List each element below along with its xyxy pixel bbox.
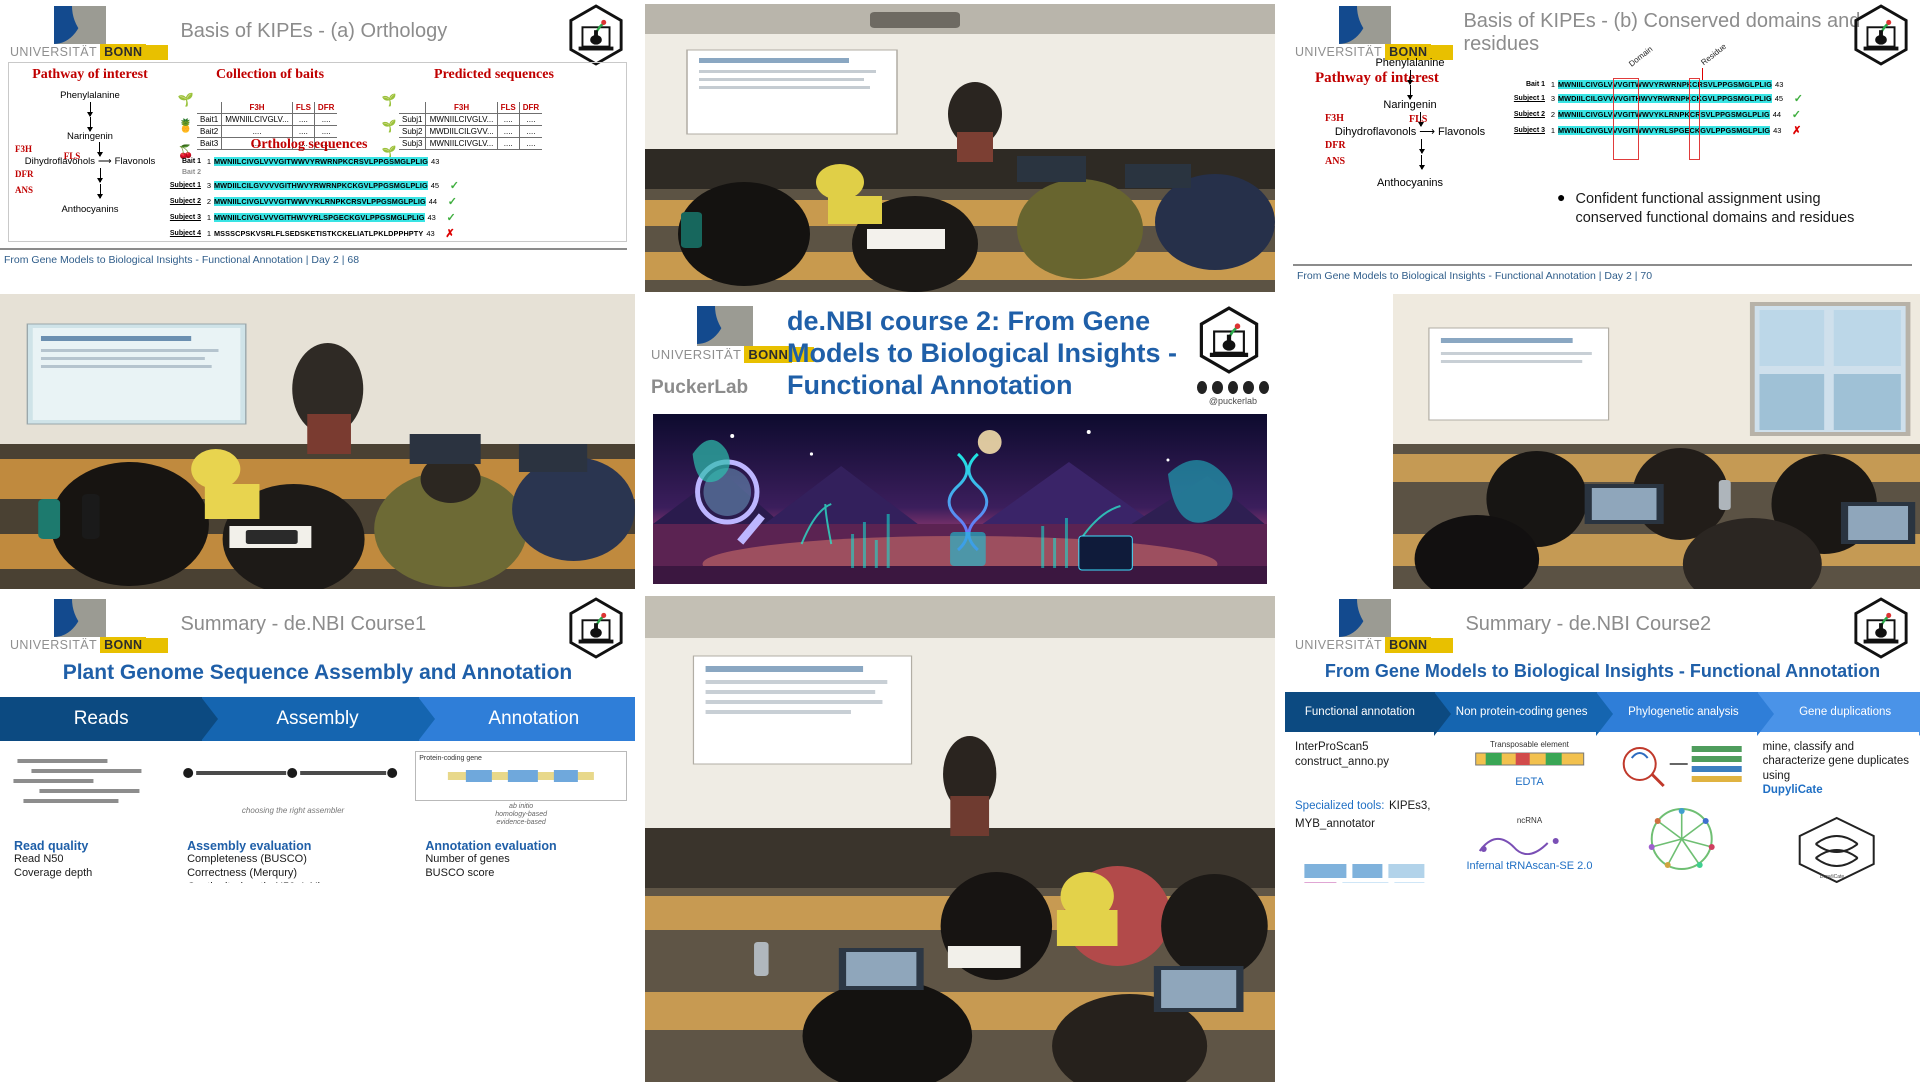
alignment-end: 43 xyxy=(428,157,444,166)
university-word: UNIVERSITÄT xyxy=(651,347,741,362)
enzyme-dfr: DFR xyxy=(15,170,34,179)
alignment-start: 1 xyxy=(205,157,214,166)
cell: .... xyxy=(222,126,293,138)
alignment-label: Subject 3 xyxy=(1503,127,1549,134)
pathway-branch: Flavonols xyxy=(1438,127,1485,138)
summary2-column-duplications: mine, classify and characterize gene dup… xyxy=(1763,740,1910,883)
alignment-label: Subject 3 xyxy=(159,214,205,221)
summary2-columns: InterProScan5 construct_anno.py Speciali… xyxy=(1285,732,1920,883)
summary2-column-phylogenetics xyxy=(1609,740,1756,883)
bullet-text: Confident functional assignment using co… xyxy=(1575,190,1887,228)
slide-header: UNIVERSITÄT BONN Summary - de.NBI Course… xyxy=(0,593,635,653)
list-item: Read N50 xyxy=(14,853,177,867)
university-word: UNIVERSITÄT xyxy=(10,638,97,652)
github-icon[interactable] xyxy=(1197,381,1207,394)
check-icon: ✓ xyxy=(1794,92,1803,105)
col-fls: FLS xyxy=(292,102,314,114)
tool-construct-anno: construct_anno.py xyxy=(1295,755,1450,770)
alignment-start: 1 xyxy=(205,213,214,222)
cell: .... xyxy=(519,126,542,138)
reads-diagram xyxy=(8,751,171,833)
pathway-arrow-icon xyxy=(100,168,101,182)
puckerlab-branding: @puckerlab xyxy=(1197,306,1269,406)
social-links[interactable] xyxy=(1197,381,1269,394)
alignment-row: Bait 2 xyxy=(159,169,459,176)
university-bonn-logo: UNIVERSITÄT BONN xyxy=(10,599,168,653)
cell: MWDIILCILGVV... xyxy=(426,126,497,138)
alignment-sequence: MWNIILCIVGLVVVGITWWVYKLRNPKCRSVLPPGSMGLP… xyxy=(1558,110,1770,119)
alignment-row: Subject 1 3 MWDIILCILGVVVVGITHWVYRWRNPKC… xyxy=(159,179,459,192)
pathway-arrow-icon xyxy=(90,102,91,116)
kipes-diagram: Pathway of interest Phenylalanine Naring… xyxy=(8,62,627,242)
col-blank xyxy=(197,102,222,114)
puckerlab-hex-logo-icon xyxy=(1197,306,1261,374)
list-item: Continuity (contig N50, LAI) xyxy=(187,881,415,884)
col-dfr: DFR xyxy=(314,102,337,114)
tool-dupylicate: DupyliCate xyxy=(1763,783,1910,798)
slide-header: UNIVERSITÄT BONN Basis of KIPEs - (a) Or… xyxy=(0,0,635,60)
alignment-end: 43 xyxy=(425,213,441,222)
ortholog-panel: Ortholog sequences Bait 1 1 MWNIILCIVGLV… xyxy=(159,137,459,243)
pathway-arrow-icon xyxy=(1410,85,1411,99)
pathway-node-0: Phenylalanine xyxy=(15,91,165,101)
bonn-crest-icon xyxy=(1339,599,1391,637)
check-icon: ✓ xyxy=(450,179,459,192)
summary1-diagram-row: choosing the right assembler Protein-cod… xyxy=(0,751,635,833)
university-word: UNIVERSITÄT xyxy=(1295,638,1382,652)
specialized-tools-label: Specialized tools: xyxy=(1295,800,1385,812)
pathway-panel: Pathway of interest Phenylalanine Naring… xyxy=(15,67,165,214)
slide-footer: From Gene Models to Biological Insights … xyxy=(0,248,627,266)
university-bonn-logo: UNIVERSITÄT BONN xyxy=(1295,599,1453,653)
alignment-start: 1 xyxy=(1549,126,1558,135)
slide-course-title[interactable]: UNIVERSITÄT BONN PuckerLab de.NBI course… xyxy=(645,298,1275,590)
pathway-arrow-icon xyxy=(99,142,100,156)
university-bonn-logo: UNIVERSITÄT BONN xyxy=(1295,6,1453,60)
bonn-crest-icon xyxy=(54,6,106,44)
alignment-panel: Domain Residue Bait 1 1 MWNIILCIVGLVVVGI… xyxy=(1503,52,1803,140)
chevron-functional-annotation[interactable]: Functional annotation xyxy=(1285,692,1435,732)
ncrna-label: ncRNA xyxy=(1456,816,1603,825)
ortholog-section-title: Ortholog sequences xyxy=(159,137,459,153)
tool-edta: EDTA xyxy=(1456,776,1603,788)
cell: .... xyxy=(497,126,519,138)
photo-lecture-room xyxy=(645,4,1275,292)
puckerlab-label: PuckerLab xyxy=(651,377,748,399)
bluesky-icon[interactable] xyxy=(1212,381,1222,394)
alignment-label: Subject 2 xyxy=(1503,111,1549,118)
alignment-label: Subject 1 xyxy=(1503,95,1549,102)
gene-note-2: evidence-based xyxy=(415,819,627,827)
alignment-label: Subject 2 xyxy=(159,198,205,205)
university-word: UNIVERSITÄT xyxy=(1295,45,1382,59)
pathway-panel: Phenylalanine Naringenin F3H Dihydroflav… xyxy=(1325,58,1495,189)
alignment-row: Subject 2 2 MWNIILCIVGLVVVGITWWVYKLRNPKC… xyxy=(159,195,459,208)
slide-header: UNIVERSITÄT BONN Summary - de.NBI Course… xyxy=(1285,593,1920,653)
check-icon: ✓ xyxy=(1792,108,1801,121)
alignment-sequence: MWNIILCIVGLVVVGITWWVYRLSPGECKGVLPPGSMGLP… xyxy=(1558,126,1770,135)
bonn-crest-icon xyxy=(697,306,753,346)
predicted-section-title: Predicted sequences xyxy=(379,67,609,83)
gene-note-1: homology-based xyxy=(415,811,627,819)
alignment-end: 45 xyxy=(1772,94,1788,103)
table-row: Subj2MWDIILCILGVV........... xyxy=(399,126,542,138)
dupylicate-logo-icon: DupyliCate xyxy=(1763,814,1910,883)
enzyme-f3h: F3H xyxy=(1325,114,1344,124)
cell: .... xyxy=(314,114,337,126)
alignment-start: 3 xyxy=(1549,94,1558,103)
alignment-end: 43 xyxy=(1770,126,1786,135)
cell: Subj1 xyxy=(399,114,426,126)
slide-summary-course2[interactable]: UNIVERSITÄT BONN Summary - de.NBI Course… xyxy=(1285,593,1920,883)
pathway-arrow-icon xyxy=(1410,70,1411,84)
col-dfr: DFR xyxy=(519,102,542,114)
photo-classroom-projector xyxy=(0,294,635,589)
pipeline-chevrons: Functional annotation Non protein-coding… xyxy=(1285,692,1920,732)
pipeline-chevrons: Reads Assembly Annotation xyxy=(0,697,635,741)
university-bonn-logo: UNIVERSITÄT BONN xyxy=(10,6,168,60)
bonn-crest-icon xyxy=(54,599,106,637)
alignment-sequence: MWDIILCILGVVVVGITHWVYRWRNPKCKGVLPPGSMGLP… xyxy=(1558,94,1772,103)
alignment-row: Subject 4 1 MSSSCPSKVSRLFLSEDSKETISTKCKE… xyxy=(159,227,459,240)
table-row: Subj1MWNIILCIVGLV........... xyxy=(399,114,542,126)
alignment-end: 43 xyxy=(1772,80,1788,89)
gallery-column-center: UNIVERSITÄT BONN PuckerLab de.NBI course… xyxy=(635,0,1285,1082)
summary2-column-ncrna: Transposable element EDTA ncRNA In xyxy=(1456,740,1603,883)
bullet-row: ● Confident functional assignment using … xyxy=(1557,190,1887,228)
assembly-diagram: choosing the right assembler xyxy=(171,751,415,833)
cross-icon: ✗ xyxy=(445,227,454,240)
alignment-start: 3 xyxy=(205,181,214,190)
alignment-label: Bait 2 xyxy=(159,169,205,176)
alignment-start: 2 xyxy=(205,197,214,206)
slide-footer: From Gene Models to Biological Insights … xyxy=(1293,264,1912,282)
pathway-arrow-icon xyxy=(90,117,91,131)
enzyme-fls: FLS xyxy=(1409,115,1427,125)
bonn-crest-icon xyxy=(1339,6,1391,44)
enzyme-f3h: F3H xyxy=(15,145,32,154)
university-bonn-logo: UNIVERSITÄT BONN PuckerLab xyxy=(651,306,779,399)
alignment-sequence: MSSSCPSKVSRLFLSEDSKETISTKCKELIATLPKLDPPH… xyxy=(214,229,423,238)
cell: .... xyxy=(292,126,314,138)
list-item: BUSCO score xyxy=(425,867,621,881)
alignment-label: Bait 1 xyxy=(1503,81,1549,88)
column-title: Assembly evaluation xyxy=(187,839,415,853)
annotation-diagram: Protein-coding gene ab initio homology-b… xyxy=(415,751,627,833)
slide-basis-kipes-domains[interactable]: UNIVERSITÄT BONN Basis of KIPEs - (b) Co… xyxy=(1285,0,1920,290)
alignment-label: Subject 4 xyxy=(159,230,205,237)
cell: Subj2 xyxy=(399,126,426,138)
university-word: UNIVERSITÄT xyxy=(10,45,97,59)
alignment-end: 45 xyxy=(428,181,444,190)
pathway-arrow-icon xyxy=(1421,155,1422,169)
pathway-node-2: Dihydroflavonols xyxy=(25,157,95,167)
pathway-arrow-icon xyxy=(100,184,101,198)
slide-basis-kipes-orthology[interactable]: UNIVERSITÄT BONN Basis of KIPEs - (a) Or… xyxy=(0,0,635,290)
cell: .... xyxy=(292,114,314,126)
list-item: Coverage depth xyxy=(14,867,177,881)
bonn-badge: BONN xyxy=(1385,637,1431,653)
tool-infernal-trnascan: Infernal tRNAscan-SE 2.0 xyxy=(1456,860,1603,873)
slide-title-line1: Basis of KIPEs - (b) Conserved domains a… xyxy=(1463,10,1860,33)
pathway-node-3: Anthocyanins xyxy=(1325,178,1495,189)
slide-title: Summary - de.NBI Course2 xyxy=(1465,599,1711,636)
bullet-icon: ● xyxy=(1557,190,1565,228)
puckerlab-hex-logo-icon xyxy=(567,4,625,66)
check-icon: ✓ xyxy=(447,211,456,224)
check-icon: ✓ xyxy=(448,195,457,208)
pathway-branch: Flavonols xyxy=(115,157,156,167)
social-handle: @puckerlab xyxy=(1197,396,1269,406)
summary1-column-assembly-eval: Assembly evaluation Completeness (BUSCO)… xyxy=(187,839,415,883)
alignment-end: 44 xyxy=(426,197,442,206)
te-label: Transposable element xyxy=(1456,740,1603,749)
bonn-badge: BONN xyxy=(100,637,146,653)
course-banner-art xyxy=(653,414,1267,584)
list-item: Correctness (Merqury) xyxy=(187,867,415,881)
alignment-row: Subject 1 3 MWDIILCILGVVVVGITHWVYRWRNPKC… xyxy=(1503,92,1803,105)
alignment-start: 1 xyxy=(205,229,214,238)
summary2-column-tools: InterProScan5 construct_anno.py Speciali… xyxy=(1295,740,1450,883)
enzyme-fls: FLS xyxy=(64,152,81,161)
pathway-node-2: Dihydroflavonols xyxy=(1335,127,1416,138)
gene-model-label: Protein-coding gene xyxy=(419,755,623,762)
alignment-end: 43 xyxy=(423,229,439,238)
annotation-track-diagram: homology-based annotation xyxy=(1295,858,1450,883)
cell: .... xyxy=(519,138,542,150)
assembly-caption: choosing the right assembler xyxy=(171,806,415,815)
alignment-row: Bait 1 1 MWNIILCIVGLVVVGITWWVYRWRNPKCRSV… xyxy=(1503,80,1803,89)
cell: MWNIILCIVGLV... xyxy=(222,114,293,126)
photo-classroom-window xyxy=(1393,294,1920,589)
pathway-section-title: Pathway of interest xyxy=(15,67,165,83)
baits-section-title: Collection of baits xyxy=(175,67,365,83)
table-row: Bait2............ xyxy=(197,126,337,138)
bonn-badge-tail xyxy=(146,638,168,653)
cell: MWNIILCIVGLV... xyxy=(426,114,497,126)
svg-text:DupyliCate: DupyliCate xyxy=(1819,874,1844,880)
slide-gallery: UNIVERSITÄT BONN Basis of KIPEs - (a) Or… xyxy=(0,0,1920,1078)
enzyme-ans: ANS xyxy=(1325,157,1345,167)
cell: .... xyxy=(497,114,519,126)
alignment-row: Subject 3 1 MWNIILCIVGLVVVGITHWVYRLSPGEC… xyxy=(159,211,459,224)
slide-title: Basis of KIPEs - (b) Conserved domains a… xyxy=(1463,6,1860,56)
bonn-badge-tail xyxy=(146,45,168,60)
alignment-end: 44 xyxy=(1770,110,1786,119)
puckerlab-hex-logo-icon xyxy=(567,597,625,659)
chevron-non-protein-coding[interactable]: Non protein-coding genes xyxy=(1435,692,1597,732)
alignment-start: 1 xyxy=(1549,80,1558,89)
ncrna-structure-icon xyxy=(1456,825,1603,855)
list-item: Completeness (BUSCO) xyxy=(187,853,415,867)
pathway-node-0: Phenylalanine xyxy=(1325,58,1495,69)
residue-highlight-box xyxy=(1689,78,1700,160)
alignment-sequence: MWNIILCIVGLVVVGITWWVYRWRNPKCRSVLPPGSMGLP… xyxy=(214,157,428,166)
summary1-column-read-quality: Read quality Read N50 Coverage depth xyxy=(14,839,177,883)
summary1-columns: Read quality Read N50 Coverage depth Ass… xyxy=(0,839,635,883)
chevron-annotation[interactable]: Annotation xyxy=(419,697,635,741)
column-title: Read quality xyxy=(14,839,177,853)
slide-summary-course1[interactable]: UNIVERSITÄT BONN Summary - de.NBI Course… xyxy=(0,593,635,883)
alignment-start: 2 xyxy=(1549,110,1558,119)
summary1-column-annotation-eval: Annotation evaluation Number of genes BU… xyxy=(425,839,621,883)
col-f3h: F3H xyxy=(222,102,293,114)
tool-interproscan: InterProScan5 xyxy=(1295,740,1450,755)
chevron-phylogenetic[interactable]: Phylogenetic analysis xyxy=(1597,692,1759,732)
alignment-row: Bait 1 1 MWNIILCIVGLVVVGITWWVYRWRNPKCRSV… xyxy=(159,157,459,166)
alignment-label: Subject 1 xyxy=(159,182,205,189)
col-fls: FLS xyxy=(497,102,519,114)
list-item: Number of genes xyxy=(425,853,621,867)
chevron-reads[interactable]: Reads xyxy=(0,697,202,741)
puckerlab-hex-logo-icon xyxy=(1852,597,1910,659)
chevron-assembly[interactable]: Assembly xyxy=(202,697,418,741)
alignment-row: Subject 2 2 MWNIILCIVGLVVVGITWWVYKLRNPKC… xyxy=(1503,108,1803,121)
residue-arrow-icon xyxy=(1702,68,1703,80)
cell: .... xyxy=(519,114,542,126)
cross-icon: ✗ xyxy=(1792,124,1801,137)
alignment-label: Bait 1 xyxy=(159,158,205,165)
chevron-gene-duplications[interactable]: Gene duplications xyxy=(1758,692,1920,732)
mastodon-icon[interactable] xyxy=(1259,381,1269,394)
summary2-headline: From Gene Models to Biological Insights … xyxy=(1325,661,1880,681)
phylogenetic-tree-icon xyxy=(1609,799,1756,877)
cell: .... xyxy=(497,138,519,150)
cell: Bait1 xyxy=(197,114,222,126)
col-blank xyxy=(399,102,426,114)
linkedin-icon[interactable] xyxy=(1243,381,1253,394)
slide-title: Summary - de.NBI Course1 xyxy=(180,599,426,636)
summary1-headline: Plant Genome Sequence Assembly and Annot… xyxy=(63,661,573,684)
pathway-arrow-icon xyxy=(1421,139,1422,153)
transposable-element-diagram xyxy=(1456,749,1603,771)
cell: .... xyxy=(314,126,337,138)
duplication-text: mine, classify and characterize gene dup… xyxy=(1763,740,1910,783)
course-title: de.NBI course 2: From Gene Models to Bio… xyxy=(779,306,1197,402)
alignment-row: Subject 3 1 MWNIILCIVGLVVVGITWWVYRLSPGEC… xyxy=(1503,124,1803,137)
domain-highlight-box xyxy=(1613,78,1639,160)
alignment-sequence: MWNIILCIVGLVVVGITHWVYRLSPGECKGVLPPGSMGLP… xyxy=(214,213,425,222)
column-title: Annotation evaluation xyxy=(425,839,621,853)
gallery-column-left: UNIVERSITÄT BONN Basis of KIPEs - (a) Or… xyxy=(0,0,635,1082)
puckerlab-hex-logo-icon xyxy=(1852,4,1910,66)
pathway-node-1: Naringenin xyxy=(15,132,165,142)
gene-note-0: ab initio xyxy=(415,803,627,811)
slide-title: Basis of KIPEs - (a) Orthology xyxy=(180,6,447,43)
alignment-sequence: MWNIILCIVGLVVVGITWWVYKLRNPKCRSVLPPGSMGLP… xyxy=(214,197,426,206)
cell: Bait2 xyxy=(197,126,222,138)
pathway-node-3: Anthocyanins xyxy=(15,205,165,215)
gallery-column-right: UNIVERSITÄT BONN Basis of KIPEs - (b) Co… xyxy=(1285,0,1920,1082)
enzyme-dfr: DFR xyxy=(1325,141,1346,151)
enzyme-ans: ANS xyxy=(15,186,33,195)
bonn-badge: BONN xyxy=(100,44,146,60)
bonn-badge-tail xyxy=(1431,638,1453,653)
sequence-cluster-diagram xyxy=(1609,740,1756,794)
slide-header: UNIVERSITÄT BONN Basis of KIPEs - (b) Co… xyxy=(1285,0,1920,60)
alignment-sequence: MWNIILCIVGLVVVGITWWVYRWRNPKCRSVLPPGSMGLP… xyxy=(1558,80,1772,89)
table-row: Bait1MWNIILCIVGLV........... xyxy=(197,114,337,126)
col-f3h: F3H xyxy=(426,102,497,114)
alignment-sequence: MWDIILCILGVVVVGITHWVYRWRNPKCKGVLPPGSMGLP… xyxy=(214,181,428,190)
photo-classroom-wide xyxy=(645,596,1275,1082)
x-icon[interactable] xyxy=(1228,381,1238,394)
pathway-node-1: Naringenin xyxy=(1325,100,1495,111)
